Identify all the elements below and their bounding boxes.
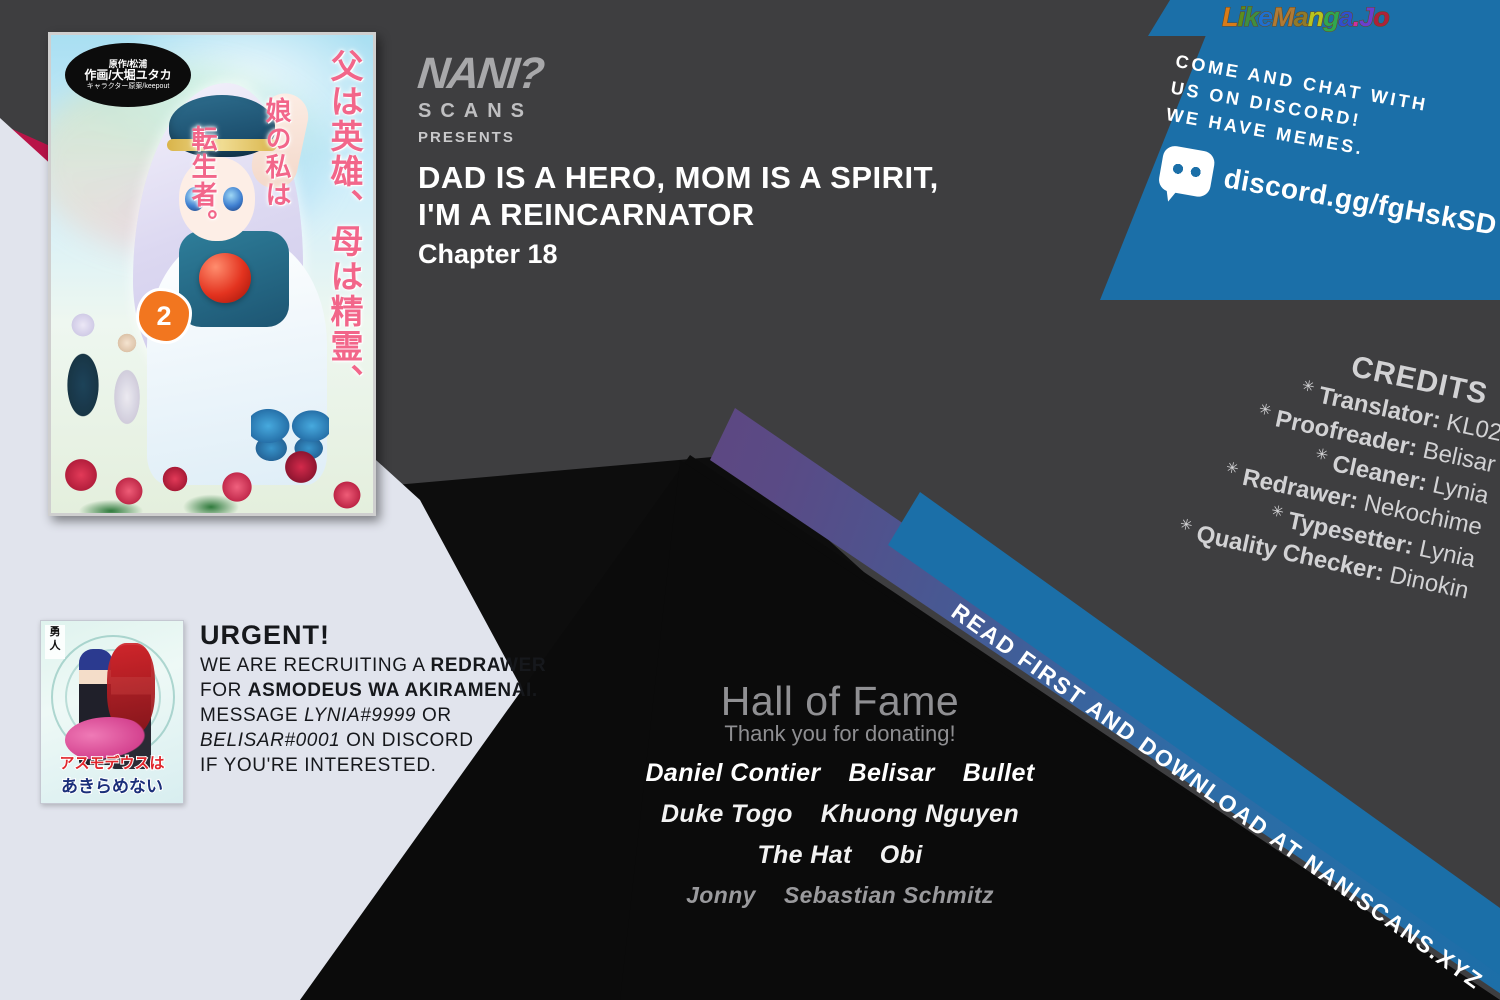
logo-letter: a bbox=[1339, 2, 1353, 32]
cover-eye-right bbox=[223, 187, 243, 211]
urgent-line4-a: BELISAR#0001 bbox=[200, 730, 340, 751]
logo-letter: o bbox=[1373, 2, 1389, 32]
logo-letter: M bbox=[1272, 2, 1294, 32]
donor-name: Obi bbox=[880, 841, 923, 869]
donor-row: Daniel ContierBelisarBullet bbox=[560, 759, 1120, 788]
urgent-line3-b: LYNIA#9999 bbox=[304, 705, 416, 726]
thumb-title-top: アスモデウスは bbox=[45, 752, 179, 773]
cover-author-name-3: keepout bbox=[144, 83, 169, 90]
donor-name: Jonny bbox=[686, 882, 756, 908]
bullet-icon: ✳ bbox=[1178, 515, 1194, 534]
bullet-icon: ✳ bbox=[1257, 401, 1273, 420]
hall-of-fame-title: Hall of Fame bbox=[560, 678, 1120, 725]
donor-name: Bullet bbox=[963, 759, 1035, 787]
urgent-line1-b: REDRAWER bbox=[431, 655, 547, 676]
urgent-line2-a: FOR bbox=[200, 680, 248, 701]
logo-letter: k bbox=[1244, 2, 1258, 32]
urgent-line4-b: ON DISCORD bbox=[340, 730, 473, 751]
credits-page: LikeManga.Jo 原作/松浦 作画/大堀ユタカ キャラクター原案/kee… bbox=[0, 0, 1500, 1000]
cover-title-main: 父は英雄、母は精霊、 bbox=[319, 49, 367, 399]
logo-letter: J bbox=[1359, 2, 1373, 32]
logo-letter: n bbox=[1308, 2, 1324, 32]
urgent-line3-c: OR bbox=[416, 705, 452, 726]
logo-letter: e bbox=[1258, 2, 1272, 32]
cover-author-role-3: キャラクター原案/ bbox=[87, 83, 145, 90]
donor-name: Daniel Contier bbox=[645, 759, 820, 787]
thumb-title-bottom: あきらめない bbox=[45, 772, 179, 797]
bullet-icon: ✳ bbox=[1270, 502, 1286, 521]
chapter-label: Chapter 18 bbox=[418, 239, 958, 270]
urgent-body: WE ARE RECRUITING A REDRAWER FOR ASMODEU… bbox=[200, 653, 546, 778]
donor-name: Belisar bbox=[849, 759, 935, 787]
cover-title-sub2: 転生者。 bbox=[184, 125, 221, 237]
cover-author-role-2: 作画/ bbox=[84, 68, 111, 82]
title-line-1: DAD IS A HERO, MOM IS A SPIRIT, bbox=[418, 160, 958, 197]
bullet-icon: ✳ bbox=[1300, 377, 1316, 396]
donor-name: Duke Togo bbox=[661, 800, 793, 828]
cover-title-sub: 娘の私は bbox=[258, 97, 295, 209]
logo-letter: a bbox=[1294, 2, 1308, 32]
urgent-line1-a: WE ARE RECRUITING A bbox=[200, 655, 431, 676]
asmodeus-thumbnail: 勇人 アスモデウスは あきらめない bbox=[40, 620, 184, 804]
page-title: DAD IS A HERO, MOM IS A SPIRIT, I'M A RE… bbox=[418, 160, 958, 233]
nani-scans-word: SCANS bbox=[418, 100, 958, 123]
cover-apple bbox=[199, 253, 251, 303]
discord-icon bbox=[1157, 144, 1216, 198]
cover-author-name-2: 大堀ユタカ bbox=[112, 68, 172, 82]
donor-name: Sebastian Schmitz bbox=[784, 882, 994, 908]
likemanga-logo[interactable]: LikeManga.Jo bbox=[1222, 2, 1389, 33]
presents-label: PRESENTS bbox=[418, 129, 958, 146]
urgent-line3-a: MESSAGE bbox=[200, 705, 304, 726]
recruiting-notice: 勇人 アスモデウスは あきらめない URGENT! WE ARE RECRUIT… bbox=[40, 620, 546, 804]
cover-author-badge: 原作/松浦 作画/大堀ユタカ キャラクター原案/keepout bbox=[65, 43, 191, 107]
bullet-icon: ✳ bbox=[1224, 459, 1240, 478]
nani-scans-logo: NANI? bbox=[416, 52, 961, 96]
hall-of-fame-subtitle: Thank you for donating! bbox=[560, 721, 1120, 747]
thumb-badge: 勇人 bbox=[45, 625, 65, 659]
cover-volume-badge: 2 bbox=[139, 291, 189, 341]
urgent-heading: URGENT! bbox=[200, 622, 546, 649]
urgent-line5: IF YOU'RE INTERESTED. bbox=[200, 755, 437, 776]
logo-letter: L bbox=[1222, 2, 1238, 32]
title-line-2: I'M A REINCARNATOR bbox=[418, 197, 958, 234]
scanlation-header: NANI? SCANS PRESENTS DAD IS A HERO, MOM … bbox=[418, 52, 958, 270]
donor-name: Khuong Nguyen bbox=[821, 800, 1019, 828]
donor-row: JonnySebastian Schmitz bbox=[560, 882, 1120, 909]
cover-roses bbox=[51, 383, 373, 513]
donor-name: The Hat bbox=[757, 841, 851, 869]
bullet-icon: ✳ bbox=[1314, 446, 1330, 465]
urgent-line2-b: ASMODEUS WA AKIRAMENAI. bbox=[248, 680, 538, 701]
manga-cover-image: 原作/松浦 作画/大堀ユタカ キャラクター原案/keepout 父は英雄、母は精… bbox=[48, 32, 376, 516]
logo-letter: g bbox=[1323, 2, 1339, 32]
hall-of-fame: Hall of Fame Thank you for donating! Dan… bbox=[560, 678, 1120, 909]
donor-row: The HatObi bbox=[560, 841, 1120, 870]
donor-row: Duke TogoKhuong Nguyen bbox=[560, 800, 1120, 829]
discord-icon-eyes bbox=[1171, 161, 1203, 180]
